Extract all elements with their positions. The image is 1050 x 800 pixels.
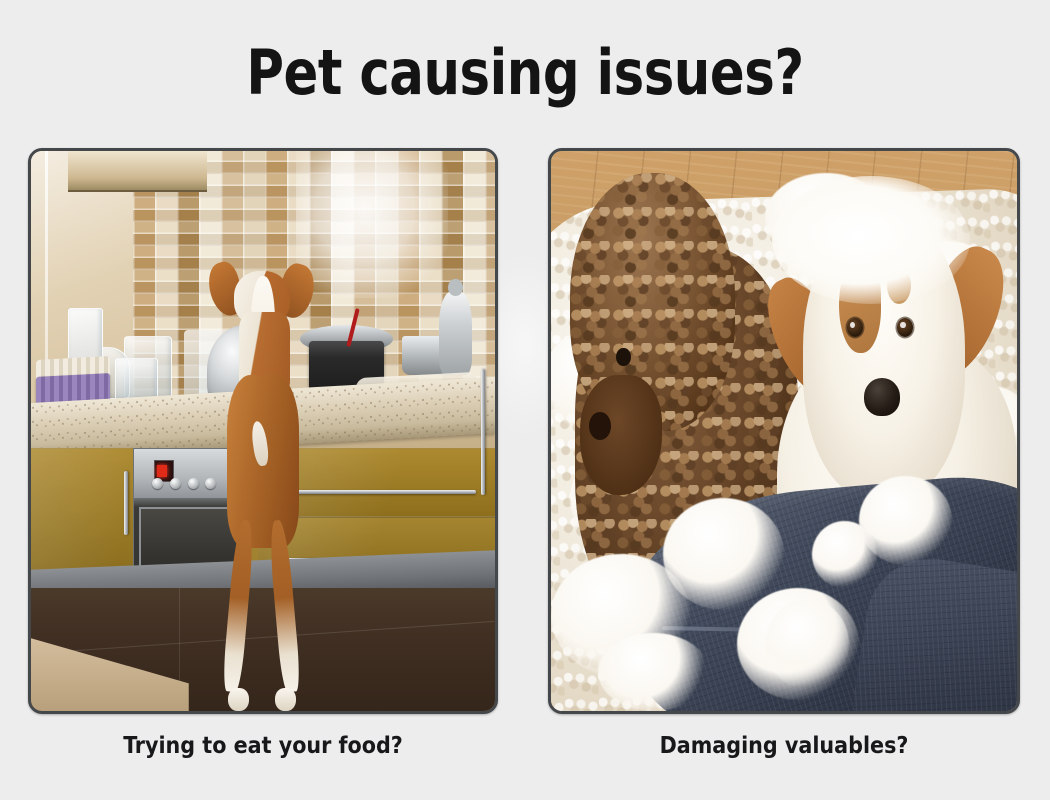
- upper-cabinet: [68, 151, 207, 192]
- stuffing-fluff-front: [598, 633, 710, 711]
- terrier-eye-left: [847, 318, 863, 337]
- caption-right: Damaging valuables?: [548, 731, 1020, 761]
- fridge-handle[interactable]: [481, 369, 485, 495]
- dog-hind-leg-right: [268, 520, 302, 693]
- photo-frame-right: [548, 148, 1020, 714]
- page-title: Pet causing issues?: [42, 38, 1008, 108]
- poodle-eye: [616, 348, 631, 366]
- oven-knob[interactable]: [188, 478, 199, 489]
- fluff-on-head: [772, 176, 970, 304]
- kitchen-photo: [31, 151, 495, 711]
- dog-paw-right: [275, 688, 296, 711]
- oven-knob[interactable]: [152, 478, 163, 489]
- caption-left: Trying to eat your food?: [28, 731, 498, 761]
- dog-at-counter: [203, 257, 324, 711]
- damaged-cushion-photo: [551, 151, 1017, 711]
- stuffing-fluff: [812, 521, 877, 588]
- dog-paw-left: [228, 688, 249, 711]
- terrier-eye-right: [897, 318, 913, 337]
- cabinet-handle-vertical[interactable]: [124, 471, 128, 534]
- photo-frame-left: [28, 148, 498, 714]
- terrier-nose: [864, 378, 900, 415]
- oven-knob[interactable]: [170, 478, 181, 489]
- pepper-grinder: [439, 291, 471, 375]
- stuffing-fluff-front: [765, 599, 849, 689]
- poodle-nose: [589, 412, 611, 440]
- dog-hind-leg-left: [222, 520, 256, 693]
